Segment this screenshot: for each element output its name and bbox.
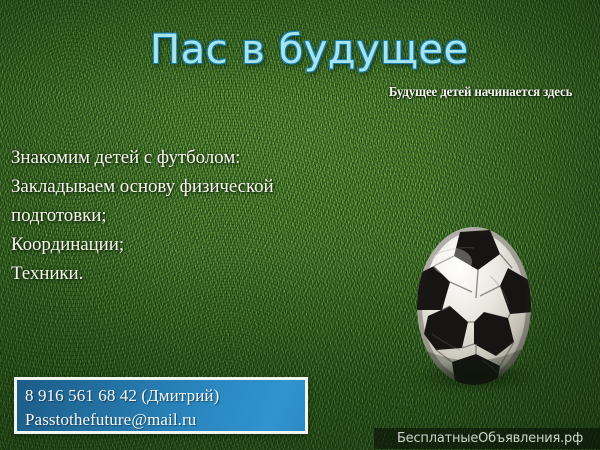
advertisement-poster: Пас в будущее Будущее детей начинается з… — [0, 0, 600, 450]
offer-line: подготовки; — [11, 203, 363, 229]
contact-email[interactable]: Passtothefuture@mail.ru — [25, 408, 305, 432]
contact-phone[interactable]: 8 916 561 68 42 (Дмитрий) — [25, 384, 305, 408]
offer-list: Знакомим детей с футболом: Закладываем о… — [11, 145, 363, 290]
tagline: Будущее детей начинается здесь — [388, 85, 572, 101]
offer-line: Координации; — [11, 232, 363, 258]
ball-drop-shadow — [412, 362, 540, 392]
contact-info-box: 8 916 561 68 42 (Дмитрий) Passtothefutur… — [14, 377, 308, 434]
offer-line: Техники. — [11, 261, 363, 287]
watermark-label: БесплатныеОбъявления.рф — [384, 430, 596, 447]
offer-line: Закладываем основу физической — [11, 174, 363, 200]
soccer-ball-image — [416, 226, 532, 386]
offer-line: Знакомим детей с футболом: — [11, 145, 363, 171]
page-title: Пас в будущее — [150, 24, 460, 76]
